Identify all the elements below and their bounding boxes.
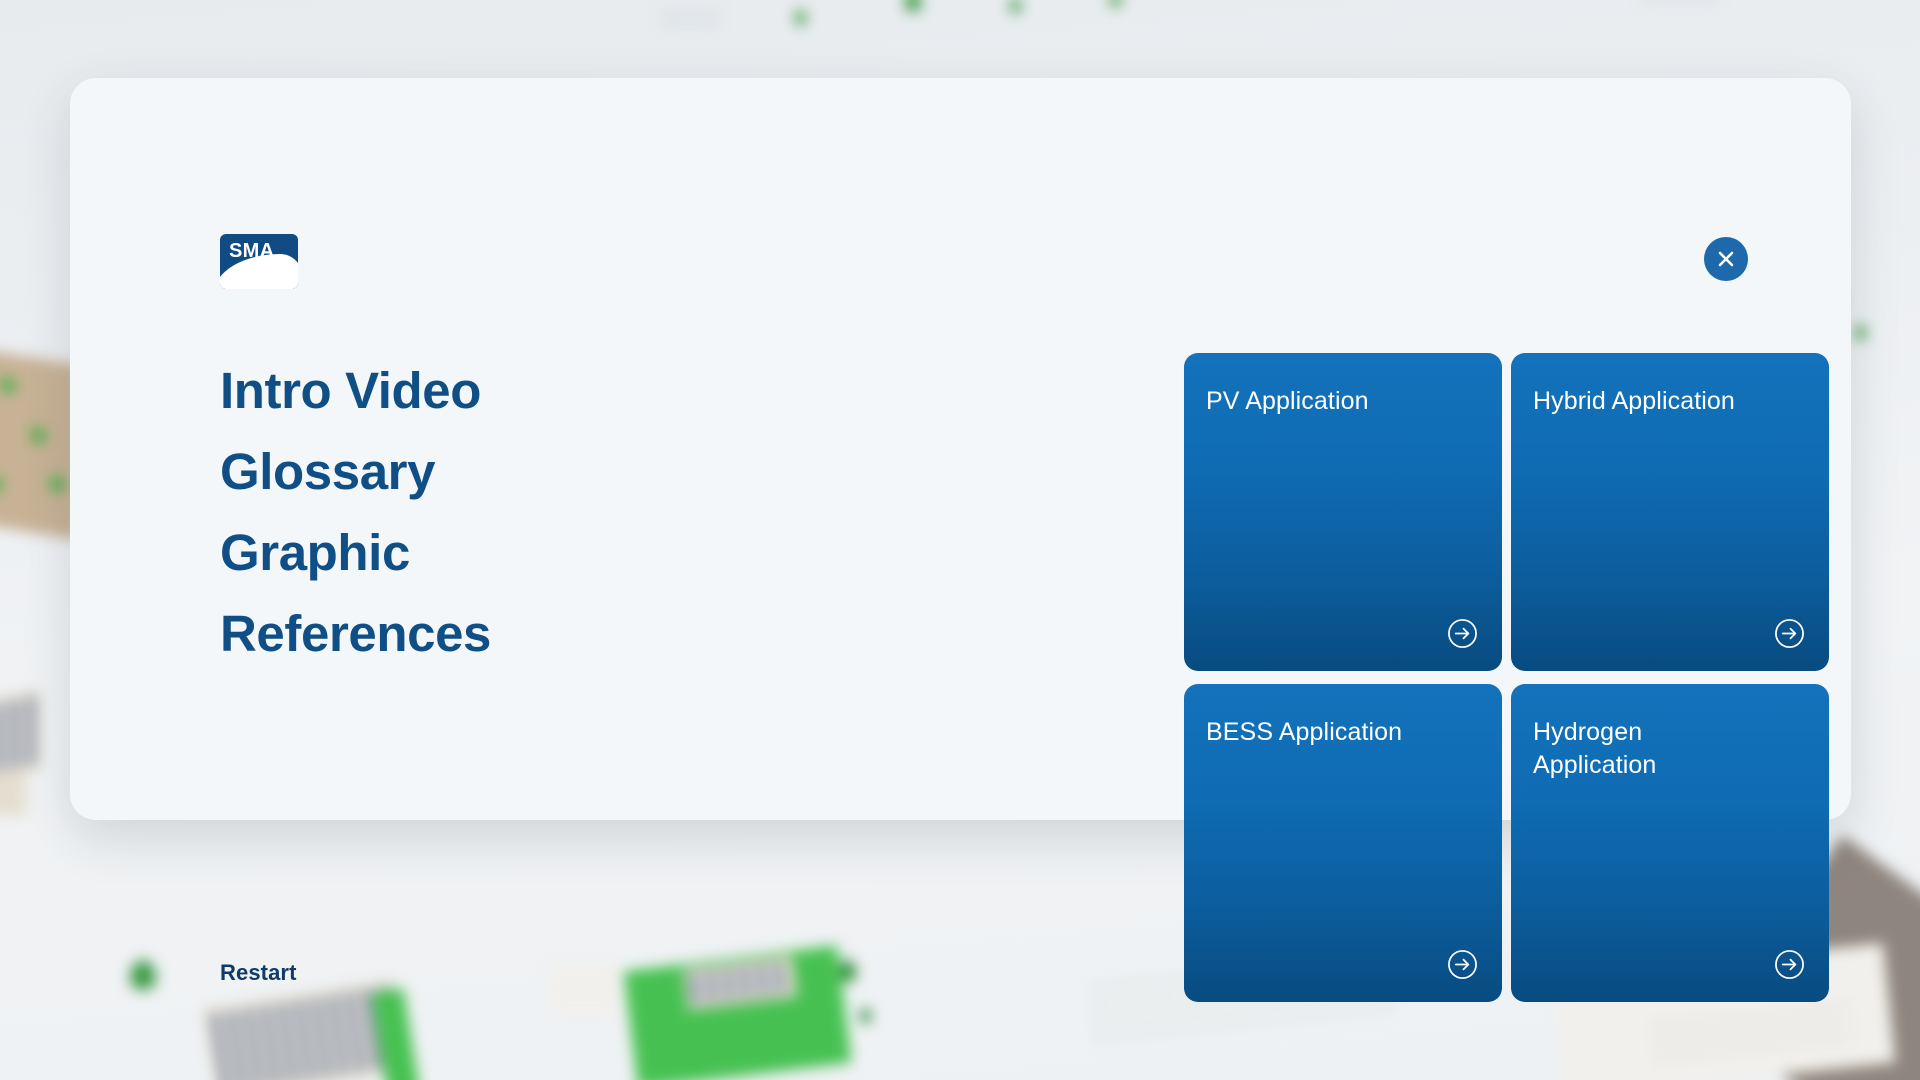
tree-icon	[905, 0, 921, 12]
application-tile-grid: PV Application Hybrid Application BESS A…	[1184, 353, 1829, 1002]
menu-item-references[interactable]: References	[220, 593, 840, 674]
tile-label: Hybrid Application	[1533, 385, 1809, 418]
tile-bess-application[interactable]: BESS Application	[1184, 684, 1502, 1002]
arrow-right-circle-icon	[1447, 949, 1478, 980]
arrow-right-circle-icon	[1447, 618, 1478, 649]
tree-icon	[1855, 325, 1866, 340]
arrow-right-circle-icon	[1774, 949, 1805, 980]
main-menu: Intro Video Glossary Graphic References	[220, 350, 840, 674]
menu-modal: SMA Intro Video Glossary Graphic Referen…	[70, 78, 1851, 820]
horizon-detail	[660, 10, 720, 28]
tree-icon	[795, 10, 806, 25]
tree-icon	[130, 960, 156, 990]
tile-label: Hydrogen Application	[1533, 716, 1683, 781]
building	[550, 965, 620, 1013]
tile-hybrid-application[interactable]: Hybrid Application	[1511, 353, 1829, 671]
menu-item-glossary[interactable]: Glossary	[220, 431, 840, 512]
tree-icon	[1010, 0, 1021, 13]
tile-pv-application[interactable]: PV Application	[1184, 353, 1502, 671]
horizon-detail	[1640, 0, 1718, 4]
tree-icon	[1110, 0, 1121, 7]
tile-label: BESS Application	[1206, 716, 1482, 749]
menu-item-graphic[interactable]: Graphic	[220, 512, 840, 593]
tree-icon	[860, 1008, 871, 1023]
tree-icon	[840, 960, 856, 982]
restart-button[interactable]: Restart	[220, 960, 297, 986]
tile-label: PV Application	[1206, 385, 1482, 418]
arrow-right-circle-icon	[1774, 618, 1805, 649]
close-icon	[1715, 248, 1737, 270]
orchard-field	[0, 335, 80, 540]
menu-item-intro-video[interactable]: Intro Video	[220, 350, 840, 431]
tile-hydrogen-application[interactable]: Hydrogen Application	[1511, 684, 1829, 1002]
sma-logo: SMA	[220, 234, 298, 289]
logo-text: SMA	[229, 241, 274, 261]
close-button[interactable]	[1704, 237, 1748, 281]
building-roof	[0, 772, 26, 816]
